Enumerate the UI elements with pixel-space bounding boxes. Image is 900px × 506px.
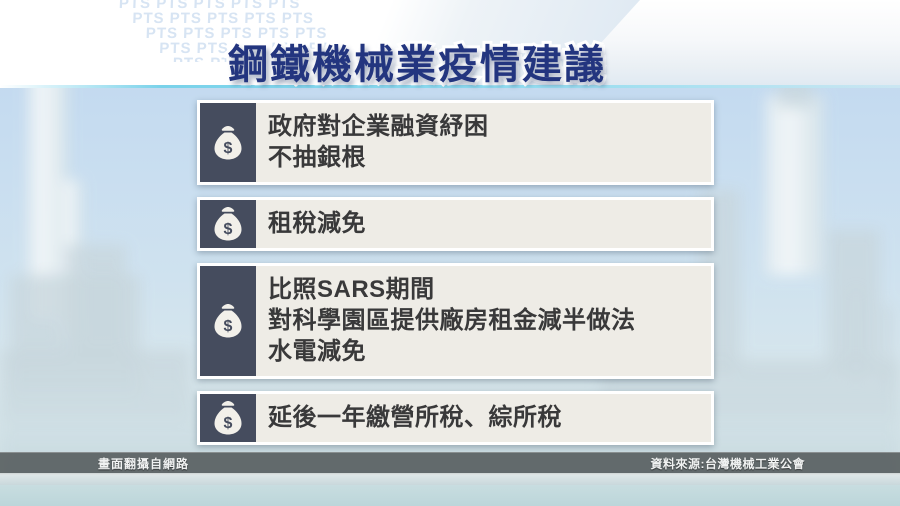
footer-note: 畫面翻攝自網路 — [98, 455, 189, 472]
footer-bar: 畫面翻攝自網路 資料來源:台灣機械工業公會 — [0, 452, 900, 475]
plant-building-left-2 — [66, 245, 126, 355]
list-item: $ 政府對企業融資紓困 不抽銀根 — [197, 100, 714, 185]
list-item-line: 不抽銀根 — [268, 142, 489, 173]
tower-right — [766, 95, 824, 275]
list-item-line: 水電減免 — [268, 336, 636, 367]
list-item: $ 延後一年繳營所稅、綜所稅 — [197, 391, 714, 445]
svg-text:$: $ — [224, 140, 233, 157]
money-bag-icon: $ — [200, 394, 256, 442]
footer-strip — [0, 473, 900, 485]
list-item: $ 比照SARS期間 對科學園區提供廠房租金減半做法 水電減免 — [197, 263, 714, 379]
footer-fill — [0, 485, 900, 506]
broadcast-screen: PTS PTS PTS PTS PTS PTS PTS PTS PTS PTS … — [0, 0, 900, 506]
list-item-text: 延後一年繳營所稅、綜所稅 — [256, 394, 572, 442]
list-item-line: 對科學園區提供廠房租金減半做法 — [268, 305, 636, 336]
list-item-line: 租稅減免 — [268, 208, 366, 239]
list-item-line: 比照SARS期間 — [268, 274, 636, 305]
money-bag-icon: $ — [200, 103, 256, 182]
page-title: 鋼鐵機械業疫情建議 — [228, 32, 606, 90]
recommendation-list: $ 政府對企業融資紓困 不抽銀根 $ 租稅減免 — [197, 100, 714, 457]
list-item-line: 政府對企業融資紓困 — [268, 111, 489, 142]
money-bag-icon: $ — [200, 266, 256, 376]
svg-text:$: $ — [224, 221, 233, 238]
svg-text:$: $ — [224, 415, 233, 432]
list-item-line: 延後一年繳營所稅、綜所稅 — [268, 402, 562, 433]
money-bag-icon: $ — [200, 200, 256, 248]
pts-watermark-line: PTS PTS PTS PTS PTS — [132, 11, 589, 26]
svg-text:$: $ — [224, 318, 233, 335]
list-item-text: 政府對企業融資紓困 不抽銀根 — [256, 103, 499, 182]
list-item-text: 租稅減免 — [256, 200, 376, 248]
list-item-text: 比照SARS期間 對科學園區提供廠房租金減半做法 水電減免 — [256, 266, 646, 376]
list-item: $ 租稅減免 — [197, 197, 714, 251]
footer-source: 資料來源:台灣機械工業公會 — [651, 455, 806, 472]
